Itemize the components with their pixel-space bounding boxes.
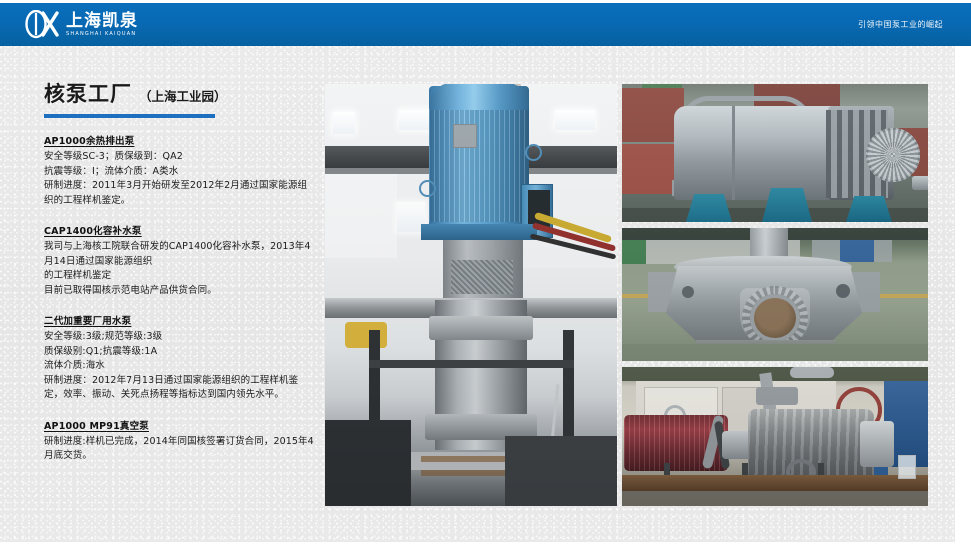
content-text-column: 核泵工厂 （上海工业园） AP1000余热排出泵 安全等级SC-3；质保级到：Q… <box>44 84 316 464</box>
section-line: 的工程样机鉴定 <box>44 269 316 284</box>
pump-casing-photo <box>622 228 928 361</box>
page-title-suffix: （上海工业园） <box>139 91 227 104</box>
section-cap1400-charging: CAP1400化容补水泵 我司与上海核工院联合研发的CAP1400化容补水泵，2… <box>44 223 316 298</box>
section-line: 我司与上海核工院联合研发的CAP1400化容补水泵，2013年4月14日通过国家… <box>44 240 316 269</box>
section-ap1000-mp91-vacuum: AP1000 MP91真空泵 研制进度:样机已完成，2014年同国核签署订货合同… <box>44 418 316 464</box>
section-heading: CAP1400化容补水泵 <box>44 223 316 237</box>
section-heading: 二代加重要厂用水泵 <box>44 313 316 327</box>
title-underline-rule <box>44 114 215 118</box>
section-line: 目前已取得国核示范电站产品供货合同。 <box>44 284 316 299</box>
section-line: 安全等级SC-3；质保级到：QA2 <box>44 150 316 165</box>
section-line: 安全等级:3级;规范等级:3级 <box>44 330 316 345</box>
section-line: 抗震等级：Ⅰ；流体介质：A类水 <box>44 165 316 180</box>
kaiquan-logo-icon <box>24 10 60 40</box>
slide-root: 上海凯泉 SHANGHAI KAIQUAN 引领中国泵工业的崛起 核泵工厂 （上… <box>0 0 971 548</box>
right-margin <box>955 46 971 548</box>
bottom-margin <box>0 542 971 548</box>
page-title-main: 核泵工厂 <box>44 84 132 105</box>
section-line: 质保级别:Q1;抗震等级:1A <box>44 345 316 360</box>
page-header: 上海凯泉 SHANGHAI KAIQUAN 引领中国泵工业的崛起 <box>0 3 971 46</box>
main-vertical-pump-photo <box>325 84 617 506</box>
page-title: 核泵工厂 （上海工业园） <box>44 84 316 105</box>
section-heading: AP1000 MP91真空泵 <box>44 418 316 432</box>
section-heading: AP1000余热排出泵 <box>44 133 316 147</box>
section-line: 研制进度：2011年3月开始研发至2012年2月通过国家能源组织的工程样机鉴定。 <box>44 179 316 208</box>
section-line: 流体介质:海水 <box>44 359 316 374</box>
header-slogan: 引领中国泵工业的崛起 <box>858 3 943 46</box>
barrel-pump-photo <box>622 84 928 222</box>
brand-name-en: SHANGHAI KAIQUAN <box>66 32 138 37</box>
section-line: 研制进度:样机已完成，2014年同国核签署订货合同，2015年4月底交货。 <box>44 435 316 464</box>
section-line: 研制进度：2012年7月13日通过国家能源组织的工程样机鉴定，效率、振动、关死点… <box>44 374 316 403</box>
brand-name-cn: 上海凯泉 <box>66 13 138 30</box>
section-ap1000-rhr: AP1000余热排出泵 安全等级SC-3；质保级到：QA2 抗震等级：Ⅰ；流体介… <box>44 133 316 208</box>
brand-logo[interactable]: 上海凯泉 SHANGHAI KAIQUAN <box>24 9 138 41</box>
test-rig-photo <box>622 367 928 506</box>
section-gen2-service-water: 二代加重要厂用水泵 安全等级:3级;规范等级:3级 质保级别:Q1;抗震等级:1… <box>44 313 316 403</box>
